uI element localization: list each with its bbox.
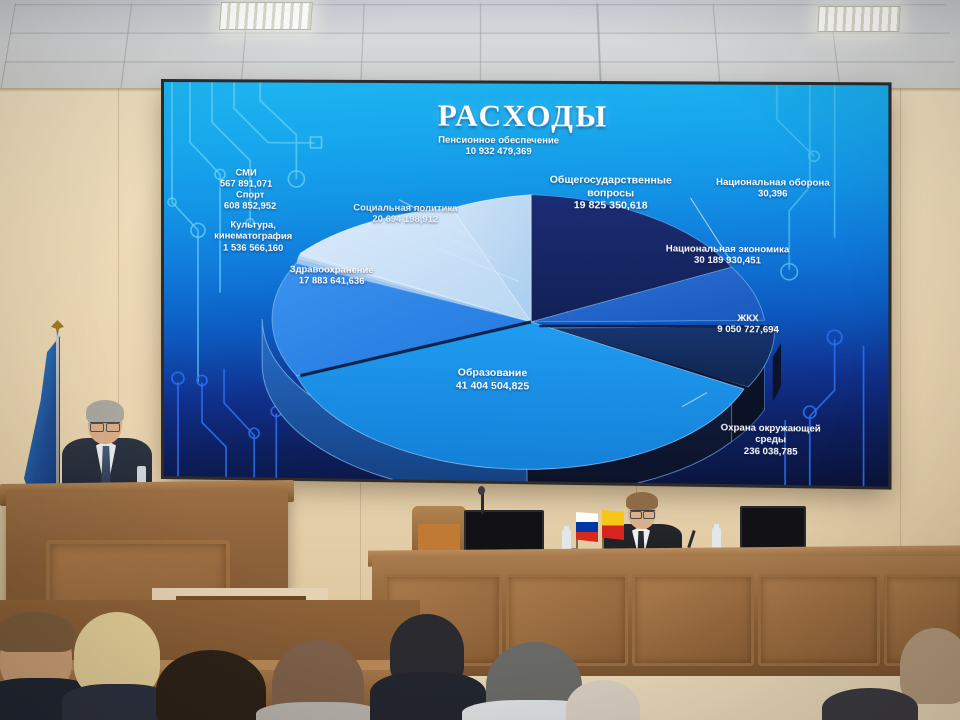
ceiling-light-panel	[817, 6, 900, 32]
screenshot-root: РАСХОДЫ	[0, 0, 960, 720]
flag-pole	[56, 326, 59, 496]
pie-label-pension: Пенсионное обеспечение 10 932 479,369	[397, 133, 600, 157]
pie-label-smi: СМИ 567 891,071	[176, 166, 316, 190]
pie-label-health: Здравоохранение 17 883 641,636	[246, 263, 417, 288]
pie-label-education: Образование 41 404 504,825	[401, 367, 584, 395]
glasses-icon	[630, 510, 655, 517]
audience-head	[900, 628, 960, 704]
pie-label-culture: Культура, кинематография 1 536 566,160	[172, 218, 335, 254]
pie-label-ecology: Охрана окружающей среды 236 038,785	[678, 421, 863, 458]
presidium-panel	[632, 574, 754, 666]
pie-label-zhkh: ЖКХ 9 050 727,694	[676, 311, 820, 336]
presidium-panel	[758, 574, 880, 666]
audience-head	[822, 688, 918, 720]
speaker-hair	[86, 400, 124, 424]
pie-label-defence: Национальная оборона 30,396	[691, 176, 856, 200]
pie-label-economy: Национальная экономика 30 189 930,451	[635, 242, 820, 267]
ceiling	[0, 0, 960, 92]
conference-hall: РАСХОДЫ	[0, 0, 960, 720]
chairman-hair	[626, 492, 658, 510]
chair-seat	[418, 524, 460, 552]
audience-shoulders	[256, 702, 382, 720]
regional-flag	[602, 510, 624, 540]
glasses-icon	[90, 422, 120, 430]
russian-flag	[576, 512, 598, 542]
pie-label-gov: Общегосударственные вопросы 19 825 350,6…	[519, 174, 703, 214]
pie-label-sport: Спорт 608 852,952	[176, 188, 325, 212]
microphone-icon	[478, 486, 485, 495]
ceiling-light-panel	[219, 2, 313, 30]
pie-label-social-policy: Социальная политика 20 694 198,912	[314, 201, 496, 226]
presentation-display[interactable]: РАСХОДЫ	[164, 82, 888, 487]
ceiling-tile-grid	[0, 3, 960, 92]
audience-hair	[0, 612, 74, 652]
microphone-stem	[481, 492, 484, 514]
